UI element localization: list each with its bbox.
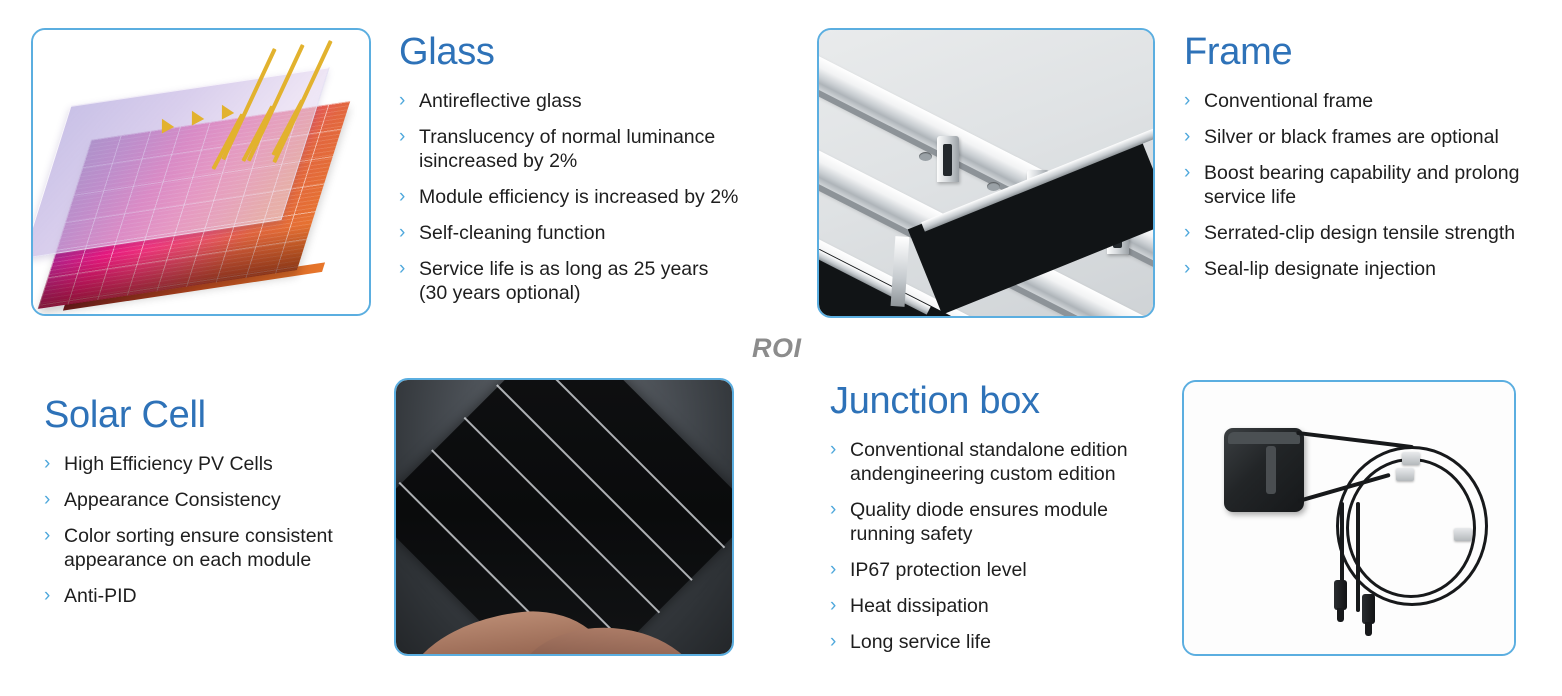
bullet-item: › IP67 protection level xyxy=(830,558,1170,582)
chevron-right-icon: › xyxy=(1184,257,1202,281)
bullet-text: Module efficiency is increased by 2% xyxy=(419,185,738,209)
bullet-text: Seal-lip designate injection xyxy=(1204,257,1436,281)
bullet-text: Heat dissipation xyxy=(850,594,989,618)
bullet-item: › Self-cleaning function xyxy=(399,221,779,245)
chevron-right-icon: › xyxy=(830,594,848,618)
mounting-hole xyxy=(987,182,1000,191)
bullet-text: IP67 protection level xyxy=(850,558,1027,582)
bullet-item: › Quality diode ensures module running s… xyxy=(830,498,1170,546)
frame-bullet-list: › Conventional frame › Silver or black f… xyxy=(1184,89,1544,281)
bullet-text: Translucency of normal luminance isincre… xyxy=(419,125,715,173)
bullet-text: Conventional frame xyxy=(1204,89,1373,113)
solar-cell-image xyxy=(396,380,732,654)
chevron-right-icon: › xyxy=(399,125,417,149)
chevron-right-icon: › xyxy=(399,185,417,209)
bullet-item: › Silver or black frames are optional xyxy=(1184,125,1544,149)
chevron-right-icon: › xyxy=(44,584,62,608)
bullet-item: › Anti-PID xyxy=(44,584,384,608)
glass-title: Glass xyxy=(399,33,779,73)
junction-box-lid xyxy=(1228,432,1300,444)
bullet-text: Self-cleaning function xyxy=(419,221,605,245)
chevron-right-icon: › xyxy=(830,558,848,582)
solar-module-components-slide: Glass › Antireflective glass › Transluce… xyxy=(0,0,1562,696)
junction-box-art xyxy=(1184,382,1514,654)
aluminium-frame-art xyxy=(819,30,1153,316)
busbar-line xyxy=(496,384,692,580)
junction-box-housing xyxy=(1224,428,1304,512)
serrated-clip xyxy=(937,136,959,182)
bullet-item: › Serrated-clip design tensile strength xyxy=(1184,221,1544,245)
solar-cell-bullet-list: › High Efficiency PV Cells › Appearance … xyxy=(44,452,384,608)
glass-image-frame xyxy=(31,28,371,316)
bullet-item: › Appearance Consistency xyxy=(44,488,384,512)
mounting-hole xyxy=(919,152,932,161)
bullet-text: Anti-PID xyxy=(64,584,137,608)
chevron-right-icon: › xyxy=(44,524,62,548)
solar-cell-title: Solar Cell xyxy=(44,396,384,436)
mc4-connector xyxy=(1454,528,1472,541)
bullet-text: Long service life xyxy=(850,630,991,654)
bullet-item: › Conventional frame xyxy=(1184,89,1544,113)
solar-cell-image-frame xyxy=(394,378,734,656)
bullet-item: › Translucency of normal luminance isinc… xyxy=(399,125,779,173)
bullet-item: › High Efficiency PV Cells xyxy=(44,452,384,476)
junction-box-bullet-list: › Conventional standalone edition andeng… xyxy=(830,438,1170,654)
frame-text-block: Frame › Conventional frame › Silver or b… xyxy=(1184,33,1544,281)
cable-lead-positive xyxy=(1356,502,1360,612)
bullet-text: Service life is as long as 25 years (30 … xyxy=(419,257,708,305)
bullet-text: Appearance Consistency xyxy=(64,488,281,512)
glass-bullet-list: › Antireflective glass › Translucency of… xyxy=(399,89,779,305)
bullet-text: Antireflective glass xyxy=(419,89,582,113)
bullet-item: › Service life is as long as 25 years (3… xyxy=(399,257,779,305)
glass-image xyxy=(33,30,369,314)
solar-cell-text-block: Solar Cell › High Efficiency PV Cells › … xyxy=(44,396,384,608)
junction-box-image xyxy=(1184,382,1514,654)
bullet-text: Color sorting ensure consistent appearan… xyxy=(64,524,333,572)
bullet-item: › Heat dissipation xyxy=(830,594,1170,618)
bullet-text: Quality diode ensures module running saf… xyxy=(850,498,1108,546)
mc4-plug-female xyxy=(1362,594,1375,624)
chevron-right-icon: › xyxy=(1184,89,1202,113)
bullet-item: › Antireflective glass xyxy=(399,89,779,113)
bullet-item: › Boost bearing capability and prolong s… xyxy=(1184,161,1544,209)
mc4-connector xyxy=(1396,468,1414,481)
chevron-right-icon: › xyxy=(44,452,62,476)
frame-title: Frame xyxy=(1184,33,1544,73)
busbar-line xyxy=(464,417,660,613)
solar-cell-wafer xyxy=(396,380,732,654)
frame-image-frame xyxy=(817,28,1155,318)
bullet-item: › Conventional standalone edition andeng… xyxy=(830,438,1170,486)
bullet-text: Boost bearing capability and prolong ser… xyxy=(1204,161,1519,209)
cable-upper xyxy=(1296,431,1414,449)
roi-label: ROI xyxy=(752,333,802,364)
chevron-right-icon: › xyxy=(399,221,417,245)
chevron-right-icon: › xyxy=(1184,221,1202,245)
junction-box-title: Junction box xyxy=(830,382,1170,422)
bullet-text: Serrated-clip design tensile strength xyxy=(1204,221,1515,245)
chevron-right-icon: › xyxy=(830,498,848,522)
bullet-item: › Color sorting ensure consistent appear… xyxy=(44,524,384,572)
bullet-text: Conventional standalone edition andengin… xyxy=(850,438,1128,486)
junction-box-image-frame xyxy=(1182,380,1516,656)
glass-text-block: Glass › Antireflective glass › Transluce… xyxy=(399,33,779,305)
mc4-connector xyxy=(1402,452,1420,465)
chevron-right-icon: › xyxy=(399,257,417,281)
bullet-item: › Long service life xyxy=(830,630,1170,654)
mc4-plug-male xyxy=(1334,580,1347,610)
chevron-right-icon: › xyxy=(830,630,848,654)
bullet-text: Silver or black frames are optional xyxy=(1204,125,1499,149)
busbar-line xyxy=(529,380,725,548)
bullet-item: › Seal-lip designate injection xyxy=(1184,257,1544,281)
glass-illustration-art xyxy=(33,30,369,314)
chevron-right-icon: › xyxy=(399,89,417,113)
bullet-item: › Module efficiency is increased by 2% xyxy=(399,185,779,209)
bullet-text: High Efficiency PV Cells xyxy=(64,452,273,476)
chevron-right-icon: › xyxy=(830,438,848,462)
chevron-right-icon: › xyxy=(44,488,62,512)
solar-cell-art xyxy=(396,380,732,654)
chevron-right-icon: › xyxy=(1184,161,1202,185)
junction-box-text-block: Junction box › Conventional standalone e… xyxy=(830,382,1170,654)
chevron-right-icon: › xyxy=(1184,125,1202,149)
frame-image xyxy=(819,30,1153,316)
